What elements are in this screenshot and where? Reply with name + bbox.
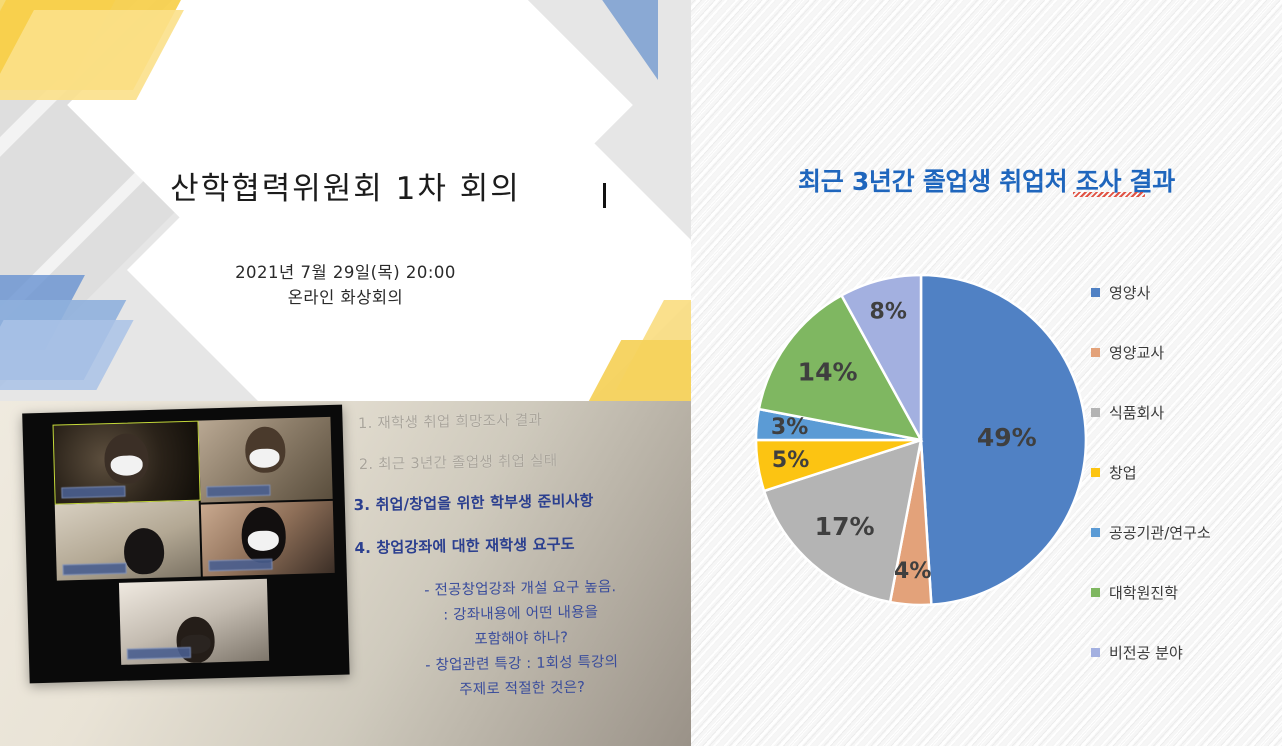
legend-swatch-icon	[1091, 408, 1100, 417]
pie-slice-label: 17%	[815, 512, 875, 541]
legend-item[interactable]: 대학원진학	[1091, 562, 1281, 622]
agenda-sub-4: - 창업관련 특강 : 1회성 특강의	[357, 649, 687, 676]
legend-swatch-icon	[1091, 348, 1100, 357]
pie-chart-svg[interactable]: 49%4%17%5%3%14%8%	[751, 270, 1091, 610]
video-conference-screen	[22, 405, 349, 684]
participant-tile	[119, 579, 269, 665]
agenda-text-block: 1. 재학생 취업 희망조사 결과 2. 최근 3년간 졸업생 취업 실태 3.…	[352, 406, 688, 742]
legend-item[interactable]: 공공기관/연구소	[1091, 502, 1281, 562]
legend-item[interactable]: 식품회사	[1091, 382, 1281, 442]
legend-swatch-icon	[1091, 288, 1100, 297]
participant-name-bar	[206, 485, 270, 498]
agenda-item-3: 3. 취업/창업을 위한 학부생 준비사항	[353, 488, 683, 515]
slide-screenshot: 산학협력위원회 1차 회의 2021년 7월 29일(목) 20:00 온라인 …	[0, 0, 1282, 746]
pie-slice-label: 49%	[977, 423, 1037, 452]
pie-slice-label: 3%	[771, 415, 808, 440]
pie-slice-label: 5%	[772, 448, 809, 473]
left-panel: 산학협력위원회 1차 회의 2021년 7월 29일(목) 20:00 온라인 …	[0, 0, 691, 746]
legend-swatch-icon	[1091, 468, 1100, 477]
slide-location: 온라인 화상회의	[0, 285, 691, 310]
pie-slice-label: 4%	[894, 559, 931, 584]
pie-slice-label: 8%	[870, 300, 907, 325]
chart-title: 최근 3년간 졸업생 취업처 조사 결과	[691, 162, 1282, 198]
text-caret	[603, 183, 606, 208]
agenda-sub-1: - 전공창업강좌 개설 요구 높음.	[355, 574, 685, 601]
participant-tile	[198, 417, 332, 503]
participant-tile	[201, 501, 335, 577]
participant-tile	[53, 421, 201, 505]
pie-slice-label: 14%	[798, 358, 858, 387]
legend-label: 영양교사	[1109, 342, 1164, 363]
legend-label: 대학원진학	[1109, 582, 1178, 603]
pie-chart[interactable]: 49%4%17%5%3%14%8%	[751, 270, 1091, 610]
participant-name-bar	[208, 559, 272, 572]
legend-label: 식품회사	[1109, 402, 1164, 423]
participant-name-bar	[62, 563, 126, 576]
participant-tile	[55, 501, 201, 581]
video-conference-screen-wrapper	[22, 405, 350, 692]
legend-swatch-icon	[1091, 648, 1100, 657]
legend-label: 공공기관/연구소	[1109, 522, 1211, 543]
slide-subtitle: 2021년 7월 29일(목) 20:00 온라인 화상회의	[0, 260, 691, 310]
conference-photo: 1. 재학생 취업 희망조사 결과 2. 최근 3년간 졸업생 취업 실태 3.…	[0, 401, 691, 746]
chart-panel: 최근 3년간 졸업생 취업처 조사 결과 49%4%17%5%3%14%8% 영…	[691, 0, 1282, 746]
slide-title: 산학협력위원회 1차 회의	[0, 163, 691, 208]
agenda-item-4: 4. 창업강좌에 대한 재학생 요구도	[354, 531, 684, 558]
legend-label: 영양사	[1109, 282, 1150, 303]
slide-datetime: 2021년 7월 29일(목) 20:00	[0, 260, 691, 285]
legend-label: 비전공 분야	[1109, 642, 1183, 663]
participant-name-bar	[127, 647, 191, 660]
decor-blue-triangle	[598, 0, 658, 80]
participant-name-bar	[61, 486, 125, 499]
legend-item[interactable]: 영양사	[1091, 262, 1281, 322]
legend-item[interactable]: 창업	[1091, 442, 1281, 502]
agenda-item-2: 2. 최근 3년간 졸업생 취업 실태	[359, 447, 683, 474]
legend-swatch-icon	[1091, 528, 1100, 537]
title-slide: 산학협력위원회 1차 회의 2021년 7월 29일(목) 20:00 온라인 …	[0, 0, 691, 402]
legend-item[interactable]: 영양교사	[1091, 322, 1281, 382]
decor-blue-shape-3	[0, 320, 134, 390]
legend-swatch-icon	[1091, 588, 1100, 597]
agenda-sub-2: : 강좌내용에 어떤 내용을	[356, 599, 686, 626]
agenda-sub-3: 포함해야 하나?	[356, 624, 686, 651]
agenda-sub-5: 주제로 적절한 것은?	[357, 674, 687, 701]
chart-legend: 영양사영양교사식품회사창업공공기관/연구소대학원진학비전공 분야	[1091, 262, 1281, 682]
legend-label: 창업	[1109, 462, 1137, 483]
legend-item[interactable]: 비전공 분야	[1091, 622, 1281, 682]
spellcheck-underline	[1073, 192, 1145, 197]
